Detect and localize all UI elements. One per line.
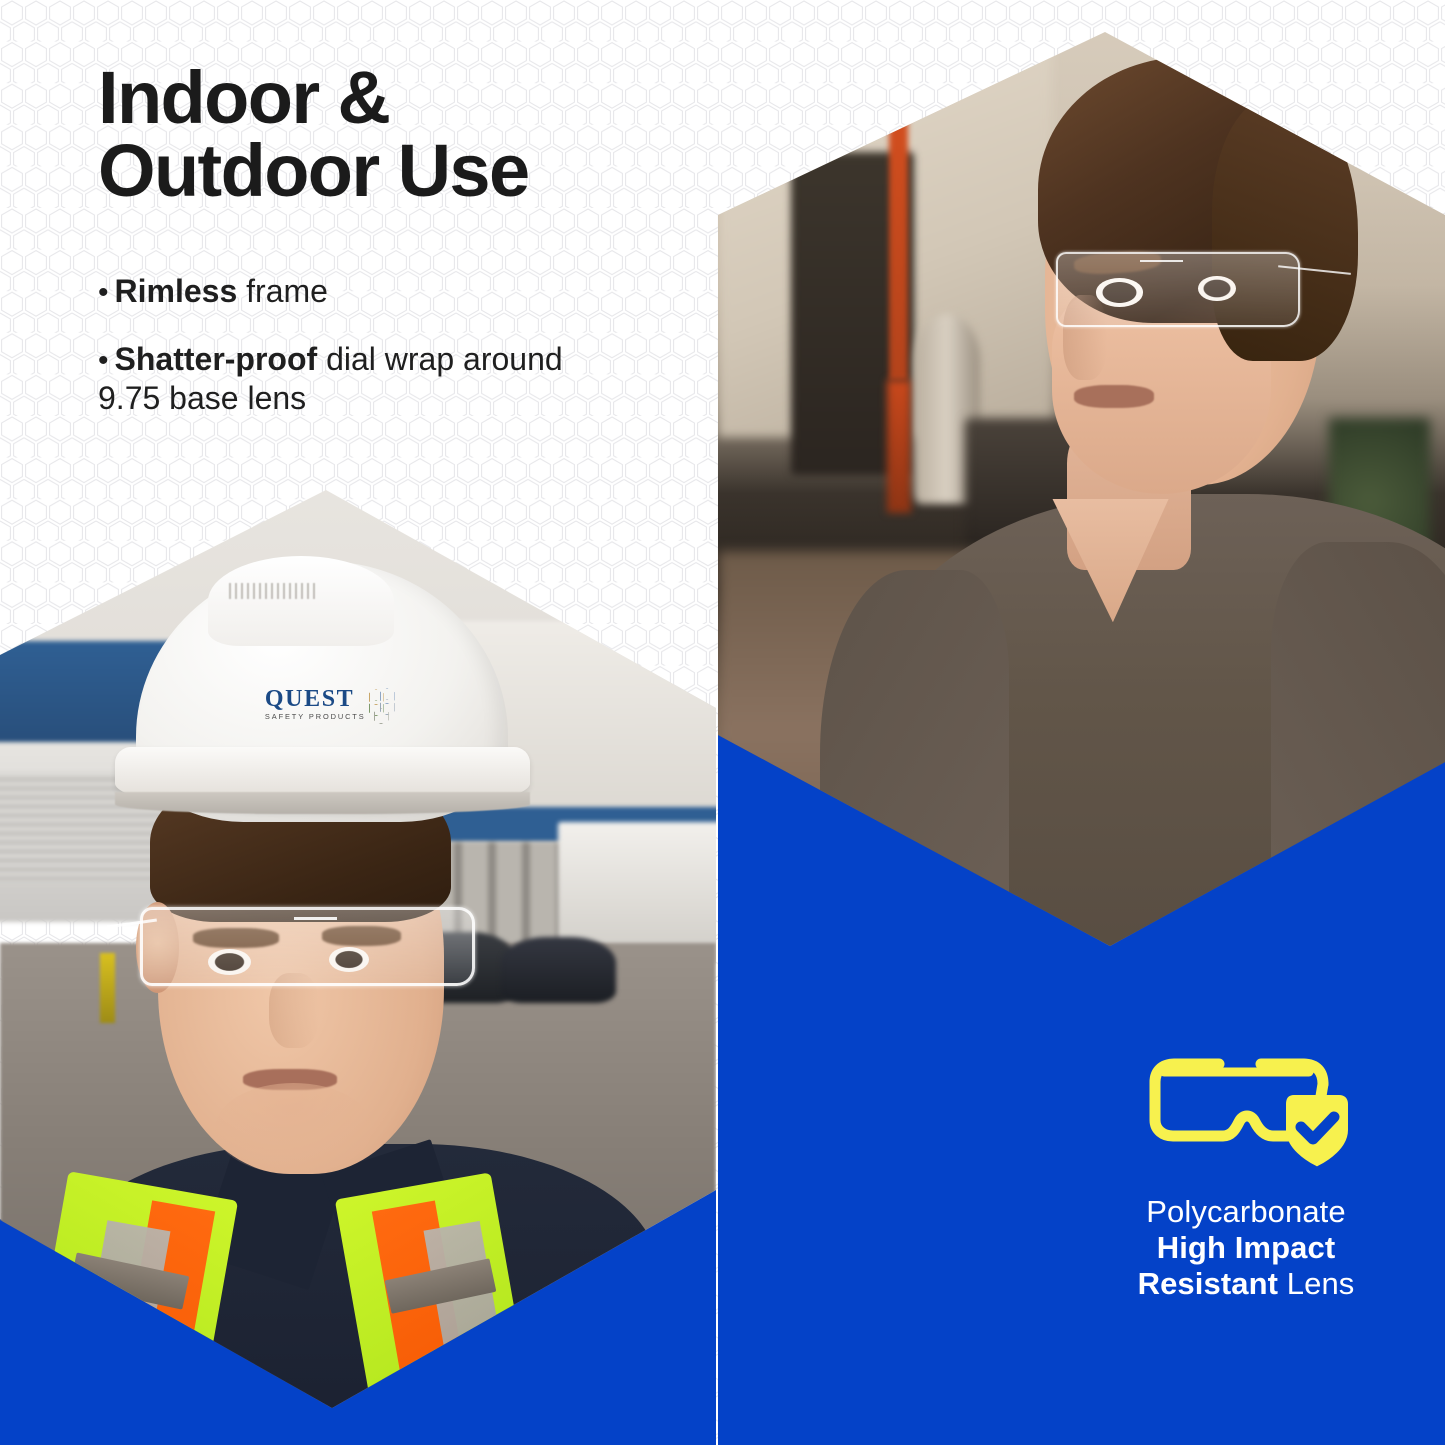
headline-line-1: Indoor &: [98, 62, 698, 135]
polycarbonate-lens-badge: Polycarbonate High Impact Resistant Lens: [1096, 1030, 1396, 1302]
feature-bullet-list: •Rimless frame •Shatter-proof dial wrap …: [98, 272, 568, 446]
bullet-dot-icon: •: [98, 276, 109, 309]
bullet-dot-icon: •: [98, 344, 109, 377]
list-item: •Rimless frame: [98, 272, 568, 312]
page-title: Indoor & Outdoor Use: [98, 62, 698, 207]
safety-glasses-right-photo: [1056, 252, 1300, 327]
bullet-bold-text: Rimless: [115, 273, 238, 309]
logo-tagline-text: SAFETY PRODUCTS: [265, 713, 366, 720]
badge-line-3-rest: Lens: [1278, 1266, 1354, 1301]
list-item: •Shatter-proof dial wrap around 9.75 bas…: [98, 340, 568, 419]
product-feature-infographic: QUEST SAFETY PRODUCTS Indoor & Outdoor U…: [0, 0, 1445, 1445]
logo-brand-text: QUEST: [265, 687, 366, 711]
badge-line-3-bold: Resistant: [1138, 1266, 1278, 1301]
quest-safety-products-logo: QUEST SAFETY PRODUCTS: [265, 673, 444, 733]
safety-goggles-shield-check-icon: [1131, 1030, 1361, 1172]
bullet-bold-text: Shatter-proof: [115, 341, 318, 377]
hexagon-cluster-icon: [369, 688, 395, 718]
badge-line-1: Polycarbonate: [1096, 1194, 1396, 1230]
bullet-rest-text: frame: [237, 273, 328, 309]
badge-line-2: High Impact: [1096, 1230, 1396, 1266]
headline-line-2: Outdoor Use: [98, 135, 698, 208]
